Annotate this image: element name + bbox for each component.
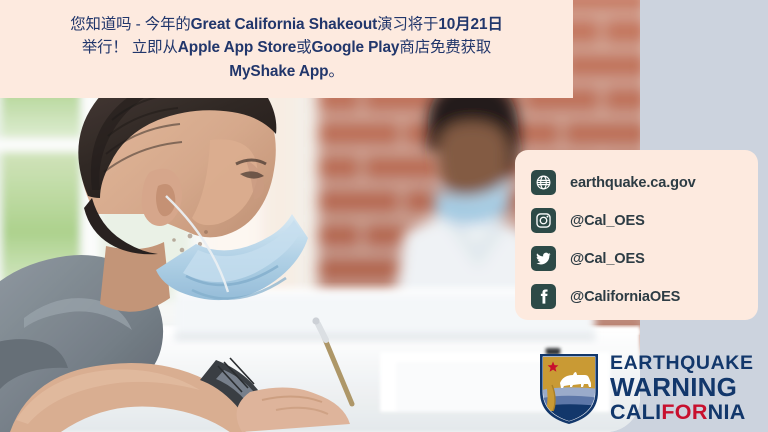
website-label: earthquake.ca.gov <box>570 175 696 191</box>
banner-line1-bold-b: 10月21日 <box>438 16 502 33</box>
banner-line2-plain-b: 或 <box>296 39 311 56</box>
twitter-icon <box>531 246 556 271</box>
announcement-banner: 您知道吗 - 今年的Great California Shakeout演习将于1… <box>0 0 573 98</box>
banner-line1-plain-a: 您知道吗 - 今年的 <box>70 16 190 33</box>
banner-line3-bold: MyShake App <box>229 63 328 80</box>
banner-line2-plain-c: 商店免费获取 <box>399 39 491 56</box>
banner-line3-plain: 。 <box>328 63 343 80</box>
banner-line-2: 举行！ 立即从Apple App Store或Google Play商店免费获取 <box>12 36 561 59</box>
logo-california-part3: NIA <box>708 400 746 424</box>
logo-california-part2: FOR <box>661 400 707 424</box>
facebook-icon <box>531 284 556 309</box>
social-row-instagram[interactable]: @Cal_OES <box>531 203 758 238</box>
banner-line2-plain-a: 举行！ 立即从 <box>82 39 178 56</box>
earthquake-warning-california-logo: EARTHQUAKE WARNING CALIFORNIA <box>538 349 764 427</box>
banner-line2-bold-b: Google Play <box>312 39 400 56</box>
twitter-label: @Cal_OES <box>570 251 645 267</box>
social-contact-panel: earthquake.ca.gov @Cal_OES @Cal_OES <box>515 150 758 320</box>
social-row-facebook[interactable]: @CaliforniaOES <box>531 279 758 314</box>
social-row-website[interactable]: earthquake.ca.gov <box>531 165 758 200</box>
banner-text: 您知道吗 - 今年的Great California Shakeout演习将于1… <box>12 13 561 83</box>
logo-wordmark: EARTHQUAKE WARNING CALIFORNIA <box>610 353 754 424</box>
banner-line1-bold-a: Great California Shakeout <box>191 16 378 33</box>
poster-canvas: 您知道吗 - 今年的Great California Shakeout演习将于1… <box>0 0 768 432</box>
instagram-label: @Cal_OES <box>570 213 645 229</box>
logo-california-part1: CALI <box>610 400 661 424</box>
california-shield-icon <box>538 351 600 425</box>
logo-line-earthquake: EARTHQUAKE <box>610 354 754 374</box>
banner-line2-bold-a: Apple App Store <box>178 39 297 56</box>
globe-icon <box>531 170 556 195</box>
instagram-icon <box>531 208 556 233</box>
banner-line1-plain-b: 演习将于 <box>377 16 438 33</box>
logo-line-warning: WARNING <box>610 374 754 400</box>
banner-line-3: MyShake App。 <box>12 60 561 83</box>
logo-line-california: CALIFORNIA <box>610 402 754 424</box>
facebook-label: @CaliforniaOES <box>570 289 680 305</box>
banner-line-1: 您知道吗 - 今年的Great California Shakeout演习将于1… <box>12 13 561 36</box>
social-row-twitter[interactable]: @Cal_OES <box>531 241 758 276</box>
